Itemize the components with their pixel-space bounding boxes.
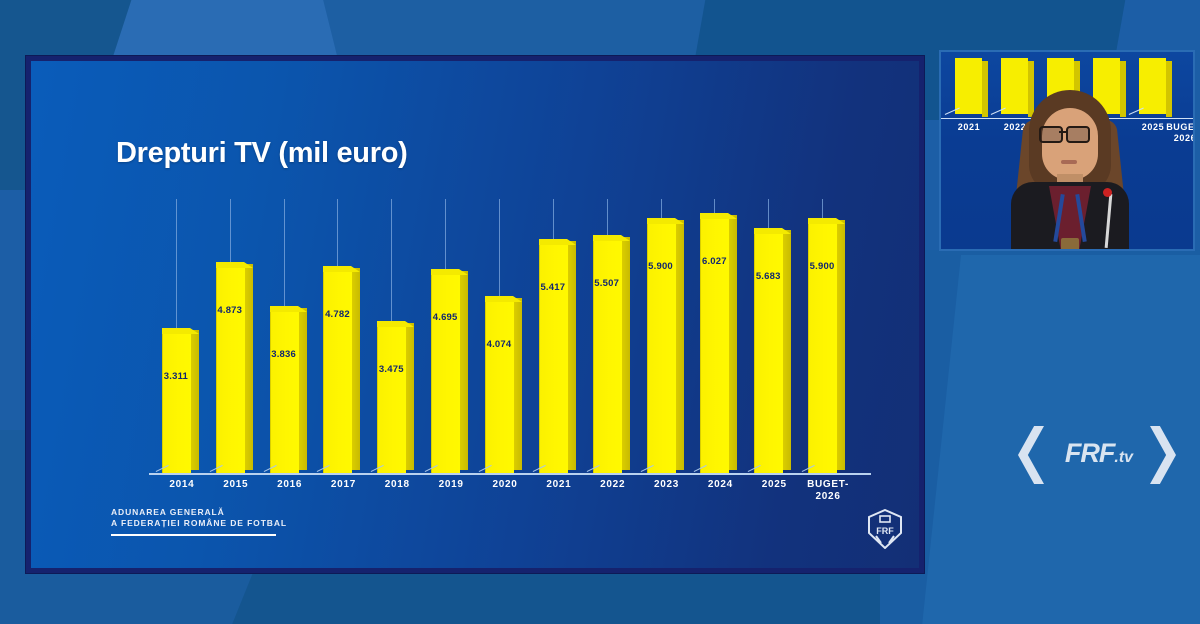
live-video-inset[interactable]: 2021 2022 202 2025 BUGET- 2026 bbox=[941, 52, 1193, 249]
chart-bar: 4.782 bbox=[323, 272, 360, 474]
mouth bbox=[1061, 160, 1077, 164]
bar-side-face bbox=[190, 330, 199, 470]
presentation-slide[interactable]: Drepturi TV (mil euro) 3.3114.8733.8364.… bbox=[26, 56, 924, 573]
bar-value-label: 4.074 bbox=[485, 339, 513, 350]
bar-side-face bbox=[405, 323, 414, 470]
slide-canvas: Drepturi TV (mil euro) 3.3114.8733.8364.… bbox=[31, 61, 919, 568]
bar-front-face bbox=[754, 234, 783, 474]
x-axis-label: 2016 bbox=[262, 479, 318, 491]
chart-bar: 3.836 bbox=[270, 312, 307, 474]
bar-value-label: 5.507 bbox=[593, 278, 621, 289]
bar-top-face bbox=[323, 266, 360, 272]
bar-value-label: 3.475 bbox=[377, 364, 405, 375]
watermark-brand: FRF bbox=[1065, 438, 1114, 468]
bar-top-face bbox=[485, 296, 522, 302]
chart-bar: 3.475 bbox=[377, 327, 414, 474]
bar-side-face bbox=[782, 230, 791, 470]
svg-text:FRF: FRF bbox=[876, 526, 894, 536]
x-axis-label: 2024 bbox=[692, 479, 748, 491]
watermark-suffix: .tv bbox=[1114, 449, 1133, 466]
x-axis-label: 2017 bbox=[315, 479, 371, 491]
bar-value-label: 5.900 bbox=[647, 261, 675, 272]
bracket-left-icon bbox=[1018, 426, 1044, 484]
bar-side-face bbox=[836, 220, 845, 470]
bar-value-label: 5.900 bbox=[808, 261, 836, 272]
chart-bar: 6.027 bbox=[700, 219, 737, 474]
footer-line-2: A FEDERAȚIEI ROMÂNE DE FOTBAL bbox=[111, 518, 287, 529]
page-title: Drepturi TV (mil euro) bbox=[116, 137, 407, 170]
x-axis-label: 2014 bbox=[154, 479, 210, 491]
video-screen-year-label: BUGET- 2026 bbox=[1163, 122, 1193, 144]
x-axis-label: 2015 bbox=[208, 479, 264, 491]
bar-side-face bbox=[675, 220, 684, 470]
microphone-head bbox=[1103, 188, 1112, 197]
x-axis-label: BUGET- 2026 bbox=[800, 479, 856, 502]
bracket-right-icon bbox=[1150, 426, 1176, 484]
bar-value-label: 4.873 bbox=[216, 305, 244, 316]
watermark-text: FRF.tv bbox=[1048, 438, 1150, 469]
bar-front-face bbox=[270, 312, 299, 474]
bar-front-face bbox=[539, 245, 568, 474]
x-axis-label: 2021 bbox=[531, 479, 587, 491]
chart-bar: 4.074 bbox=[485, 302, 522, 474]
bar-front-face bbox=[162, 334, 191, 474]
bar-side-face bbox=[567, 241, 576, 470]
bar-front-face bbox=[593, 241, 622, 474]
x-axis-label: 2020 bbox=[477, 479, 533, 491]
bar-top-face bbox=[431, 269, 468, 275]
chart-bar: 5.417 bbox=[539, 245, 576, 474]
bar-front-face bbox=[431, 275, 460, 474]
bar-value-label: 4.695 bbox=[431, 312, 459, 323]
chart-bar: 5.900 bbox=[647, 224, 684, 474]
bar-side-face bbox=[621, 237, 630, 470]
bar-value-label: 4.782 bbox=[323, 309, 351, 320]
bar-top-face bbox=[647, 218, 684, 224]
bar-value-label: 5.683 bbox=[754, 271, 782, 282]
slide-footer: ADUNAREA GENERALĂ A FEDERAȚIEI ROMÂNE DE… bbox=[111, 507, 287, 536]
video-screen-bar bbox=[1139, 58, 1166, 114]
bar-side-face bbox=[244, 264, 253, 470]
x-axis-label: 2019 bbox=[423, 479, 479, 491]
bar-side-face bbox=[513, 298, 522, 470]
bar-value-label: 5.417 bbox=[539, 282, 567, 293]
chart-bar: 4.873 bbox=[216, 268, 253, 474]
glasses-bridge bbox=[1059, 131, 1066, 133]
bar-side-face bbox=[351, 268, 360, 470]
bar-top-face bbox=[700, 213, 737, 219]
chart-bar: 5.507 bbox=[593, 241, 630, 474]
bar-value-label: 3.311 bbox=[162, 371, 190, 382]
x-axis-label: 2022 bbox=[585, 479, 641, 491]
bar-top-face bbox=[377, 321, 414, 327]
bar-top-face bbox=[216, 262, 253, 268]
video-screen-year-label: 2021 bbox=[947, 122, 991, 133]
chart-bar: 5.900 bbox=[808, 224, 845, 474]
speaker-figure bbox=[1011, 90, 1129, 249]
badge bbox=[1061, 238, 1079, 249]
x-axis-label: 2023 bbox=[639, 479, 695, 491]
glasses-icon bbox=[1066, 126, 1090, 143]
video-screen-bar bbox=[955, 58, 982, 114]
bar-top-face bbox=[162, 328, 199, 334]
bar-front-face bbox=[323, 272, 352, 474]
bar-front-face bbox=[485, 302, 514, 474]
bar-value-label: 6.027 bbox=[700, 256, 728, 267]
face bbox=[1042, 108, 1098, 180]
glasses-icon bbox=[1039, 126, 1063, 143]
footer-line-1: ADUNAREA GENERALĂ bbox=[111, 507, 287, 518]
bar-top-face bbox=[808, 218, 845, 224]
frf-shield-icon: FRF bbox=[867, 509, 903, 549]
chart-bar: 3.311 bbox=[162, 334, 199, 474]
x-axis-label: 2018 bbox=[369, 479, 425, 491]
bar-side-face bbox=[728, 215, 737, 470]
bar-front-face bbox=[216, 268, 245, 474]
x-axis-label: 2025 bbox=[746, 479, 802, 491]
bar-top-face bbox=[593, 235, 630, 241]
chart-bar: 4.695 bbox=[431, 275, 468, 474]
bar-side-face bbox=[459, 271, 468, 470]
bar-front-face bbox=[377, 327, 406, 474]
bar-side-face bbox=[298, 308, 307, 470]
bar-top-face bbox=[539, 239, 576, 245]
chart-bar: 5.683 bbox=[754, 234, 791, 474]
bar-top-face bbox=[270, 306, 307, 312]
footer-divider bbox=[111, 534, 276, 536]
bar-value-label: 3.836 bbox=[270, 349, 298, 360]
frf-tv-watermark: FRF.tv bbox=[1018, 424, 1178, 486]
chart-bars: 3.3114.8733.8364.7823.4754.6954.0745.417… bbox=[159, 199, 859, 474]
bar-top-face bbox=[754, 228, 791, 234]
